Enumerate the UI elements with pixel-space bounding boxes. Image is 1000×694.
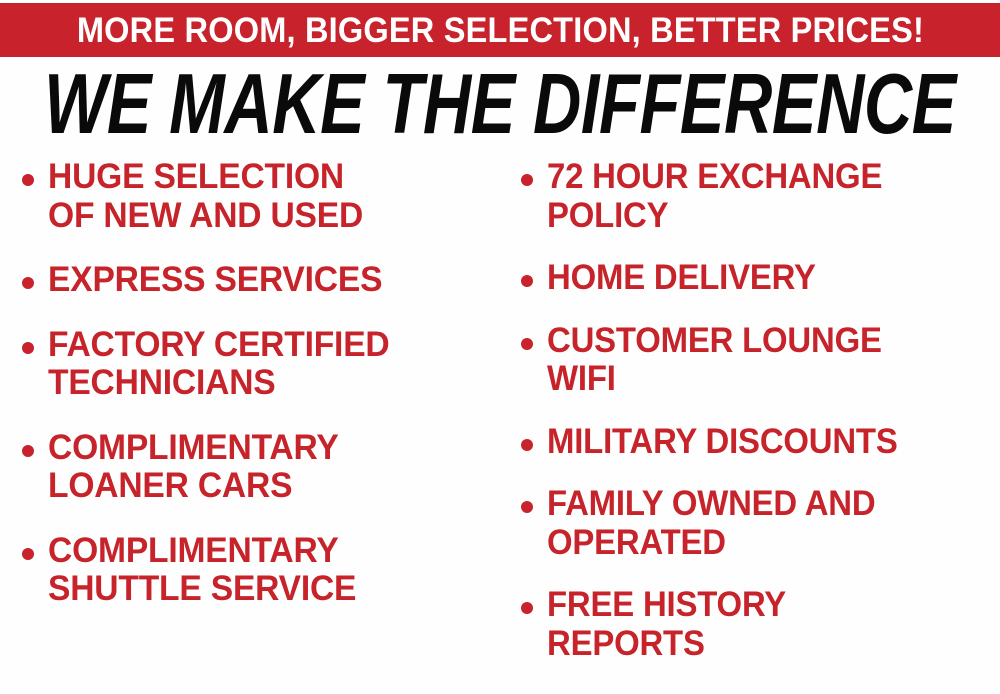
list-item: FACTORY CERTIFIED TECHNICIANS [22, 326, 501, 403]
promo-strip: MORE ROOM, BIGGER SELECTION, BETTER PRIC… [0, 3, 1000, 57]
list-item: HOME DELIVERY [521, 259, 1000, 298]
list-item: EXPRESS SERVICES [22, 261, 501, 300]
list-item-label: HUGE SELECTION OF NEW AND USED [48, 158, 363, 235]
bullet-dot-icon [521, 275, 533, 287]
benefits-columns: HUGE SELECTION OF NEW AND USED EXPRESS S… [0, 158, 1000, 694]
advertisement-banner: MORE ROOM, BIGGER SELECTION, BETTER PRIC… [0, 0, 1000, 694]
list-item-label: CUSTOMER LOUNGE WIFI [547, 322, 882, 399]
list-item: COMPLIMENTARY SHUTTLE SERVICE [22, 532, 501, 609]
promo-strip-text: MORE ROOM, BIGGER SELECTION, BETTER PRIC… [76, 13, 923, 48]
benefits-column-left: HUGE SELECTION OF NEW AND USED EXPRESS S… [0, 158, 501, 694]
list-item: 72 HOUR EXCHANGE POLICY [521, 158, 1000, 235]
list-item: CUSTOMER LOUNGE WIFI [521, 322, 1000, 399]
bullet-dot-icon [521, 602, 533, 614]
list-item-label: FAMILY OWNED AND OPERATED [547, 485, 875, 562]
list-item-label: 72 HOUR EXCHANGE POLICY [547, 158, 882, 235]
page-title: WE MAKE THE DIFFERENCE [44, 62, 956, 147]
bullet-dot-icon [521, 338, 533, 350]
bullet-dot-icon [22, 277, 34, 289]
list-item-label: FACTORY CERTIFIED TECHNICIANS [48, 326, 389, 403]
list-item-label: HOME DELIVERY [547, 259, 816, 298]
bullet-dot-icon [22, 445, 34, 457]
benefits-column-right: 72 HOUR EXCHANGE POLICY HOME DELIVERY CU… [501, 158, 1000, 694]
list-item: MILITARY DISCOUNTS [521, 423, 1000, 462]
list-item: FAMILY OWNED AND OPERATED [521, 485, 1000, 562]
list-item: HUGE SELECTION OF NEW AND USED [22, 158, 501, 235]
list-item: COMPLIMENTARY LOANER CARS [22, 429, 501, 506]
bullet-dot-icon [521, 439, 533, 451]
bullet-dot-icon [22, 342, 34, 354]
list-item-label: COMPLIMENTARY SHUTTLE SERVICE [48, 532, 356, 609]
headline-container: WE MAKE THE DIFFERENCE [0, 60, 1000, 150]
list-item-label: FREE HISTORY REPORTS [547, 586, 786, 663]
bullet-dot-icon [521, 501, 533, 513]
bullet-dot-icon [521, 174, 533, 186]
list-item-label: COMPLIMENTARY LOANER CARS [48, 429, 339, 506]
list-item-label: EXPRESS SERVICES [48, 261, 382, 300]
bullet-dot-icon [22, 174, 34, 186]
list-item: FREE HISTORY REPORTS [521, 586, 1000, 663]
list-item-label: MILITARY DISCOUNTS [547, 423, 898, 462]
bullet-dot-icon [22, 548, 34, 560]
